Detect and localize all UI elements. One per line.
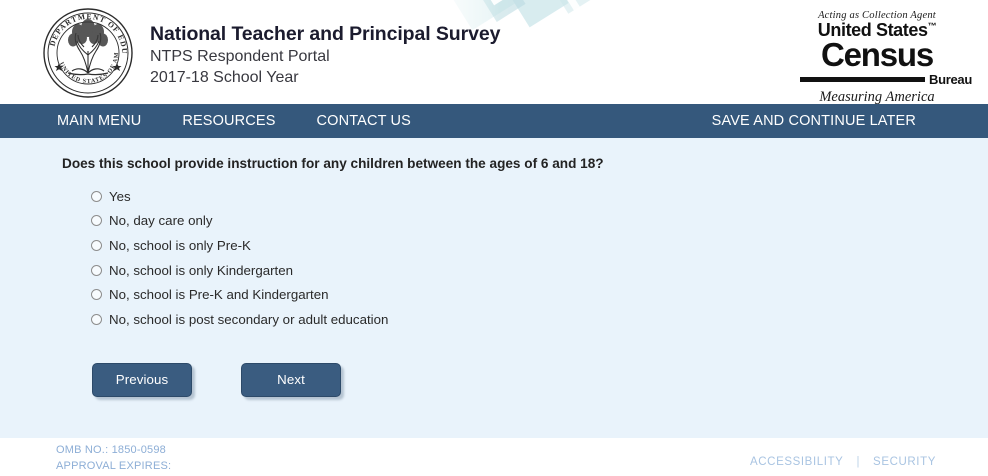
page-header: DEPARTMENT OF EDUCATION UNITED STATES OF… (0, 0, 988, 104)
radio-button-only-kindergarten[interactable] (91, 265, 102, 276)
main-navigation-bar: MAIN MENU RESOURCES CONTACT US SAVE AND … (0, 104, 988, 138)
trademark-icon: ™ (928, 21, 937, 31)
option-row-post-secondary-or-adult[interactable]: No, school is post secondary or adult ed… (91, 307, 988, 332)
option-label-yes[interactable]: Yes (109, 189, 131, 204)
nav-items-group: MAIN MENU RESOURCES CONTACT US (0, 113, 452, 129)
census-bureau-row: Bureau (782, 72, 972, 87)
answer-options-group: Yes No, day care only No, school is only… (91, 184, 988, 332)
option-row-pre-k-and-kindergarten[interactable]: No, school is Pre-K and Kindergarten (91, 282, 988, 307)
header-title-block: National Teacher and Principal Survey NT… (150, 22, 500, 89)
nav-item-contact-us[interactable]: CONTACT US (317, 113, 411, 129)
previous-button[interactable]: Previous (92, 363, 192, 397)
school-year-subtitle: 2017-18 School Year (150, 67, 500, 88)
option-label-post-secondary-or-adult[interactable]: No, school is post secondary or adult ed… (109, 312, 388, 327)
radio-button-day-care-only[interactable] (91, 215, 102, 226)
omb-number: OMB NO.: 1850-0598 (56, 442, 171, 458)
radio-button-only-pre-k[interactable] (91, 240, 102, 251)
footer-link-separator: | (856, 456, 860, 468)
option-label-only-pre-k[interactable]: No, school is only Pre-K (109, 238, 251, 253)
option-row-only-kindergarten[interactable]: No, school is only Kindergarten (91, 258, 988, 283)
portal-subtitle: NTPS Respondent Portal (150, 46, 500, 67)
nav-item-resources[interactable]: RESOURCES (182, 113, 275, 129)
next-button[interactable]: Next (241, 363, 341, 397)
approval-expires: APPROVAL EXPIRES: (56, 458, 171, 474)
radio-button-pre-k-and-kindergarten[interactable] (91, 289, 102, 300)
census-bureau-logo: Acting as Collection Agent United States… (782, 10, 972, 104)
security-link[interactable]: SECURITY (873, 456, 936, 468)
option-label-day-care-only[interactable]: No, day care only (109, 213, 212, 228)
nav-right-group: SAVE AND CONTINUE LATER (712, 104, 988, 138)
department-of-education-seal-icon: DEPARTMENT OF EDUCATION UNITED STATES OF… (42, 7, 134, 99)
nav-item-main-menu[interactable]: MAIN MENU (57, 113, 141, 129)
option-row-yes[interactable]: Yes (91, 184, 988, 209)
footer-links-group: ACCESSIBILITY | SECURITY (750, 456, 936, 468)
omb-info-block: OMB NO.: 1850-0598 APPROVAL EXPIRES: (56, 442, 171, 474)
radio-button-post-secondary-or-adult[interactable] (91, 314, 102, 325)
census-wordmark: Census (782, 40, 972, 71)
option-row-day-care-only[interactable]: No, day care only (91, 209, 988, 234)
page-title: National Teacher and Principal Survey (150, 22, 500, 46)
question-text: Does this school provide instruction for… (62, 156, 988, 171)
census-tagline: Measuring America (782, 89, 972, 104)
census-divider-rule (800, 77, 925, 82)
survey-content-area: Does this school provide instruction for… (0, 138, 988, 438)
option-row-only-pre-k[interactable]: No, school is only Pre-K (91, 233, 988, 258)
option-label-only-kindergarten[interactable]: No, school is only Kindergarten (109, 263, 293, 278)
option-label-pre-k-and-kindergarten[interactable]: No, school is Pre-K and Kindergarten (109, 287, 329, 302)
navigation-buttons: Previous Next (92, 363, 988, 397)
accessibility-link[interactable]: ACCESSIBILITY (750, 456, 843, 468)
save-and-continue-later-link[interactable]: SAVE AND CONTINUE LATER (712, 113, 916, 129)
page-footer: OMB NO.: 1850-0598 APPROVAL EXPIRES: ACC… (0, 438, 988, 476)
census-bureau-text: Bureau (929, 72, 972, 87)
radio-button-yes[interactable] (91, 191, 102, 202)
